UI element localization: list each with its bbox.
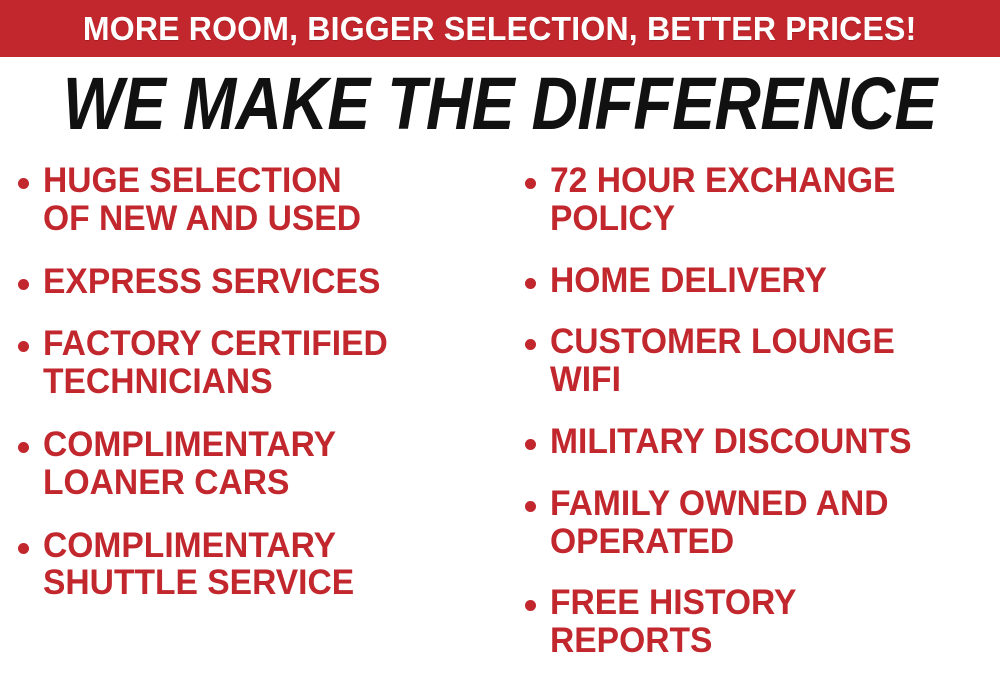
- list-item: FREE HISTORY REPORTS: [523, 584, 1000, 660]
- bullet-dot-icon: [525, 339, 536, 350]
- bullet-dot-icon: [525, 439, 536, 450]
- list-item: COMPLIMENTARY LOANER CARS: [18, 426, 505, 502]
- list-item: 72 HOUR EXCHANGE POLICY: [523, 162, 1000, 238]
- bullet-dot-icon: [18, 279, 29, 290]
- list-item-label: 72 HOUR EXCHANGE POLICY: [550, 162, 895, 238]
- list-item: HOME DELIVERY: [523, 262, 1000, 300]
- bullet-dot-icon: [18, 178, 29, 189]
- list-item-label: COMPLIMENTARY LOANER CARS: [43, 426, 336, 502]
- list-item: HUGE SELECTION OF NEW AND USED: [18, 162, 505, 238]
- list-item-label: HOME DELIVERY: [550, 262, 827, 300]
- list-item: FAMILY OWNED AND OPERATED: [523, 485, 1000, 561]
- bullet-dot-icon: [18, 543, 29, 554]
- list-item: CUSTOMER LOUNGE WIFI: [523, 323, 1000, 399]
- bullet-dot-icon: [18, 442, 29, 453]
- benefits-columns: HUGE SELECTION OF NEW AND USED EXPRESS S…: [0, 156, 1000, 694]
- list-item: MILITARY DISCOUNTS: [523, 423, 1000, 461]
- promo-banner: MORE ROOM, BIGGER SELECTION, BETTER PRIC…: [0, 0, 1000, 57]
- list-item-label: MILITARY DISCOUNTS: [550, 423, 912, 461]
- list-item-label: FREE HISTORY REPORTS: [550, 584, 796, 660]
- list-item-label: EXPRESS SERVICES: [43, 263, 380, 301]
- benefits-column-right: 72 HOUR EXCHANGE POLICY HOME DELIVERY CU…: [505, 156, 1000, 694]
- bullet-dot-icon: [525, 600, 536, 611]
- page-title: WE MAKE THE DIFFERENCE: [63, 66, 937, 141]
- list-item-label: FAMILY OWNED AND OPERATED: [550, 485, 889, 561]
- list-item: FACTORY CERTIFIED TECHNICIANS: [18, 325, 505, 401]
- headline-container: WE MAKE THE DIFFERENCE: [0, 62, 1000, 144]
- list-item: EXPRESS SERVICES: [18, 263, 505, 301]
- list-item-label: HUGE SELECTION OF NEW AND USED: [43, 162, 361, 238]
- list-item-label: FACTORY CERTIFIED TECHNICIANS: [43, 325, 388, 401]
- bullet-dot-icon: [18, 341, 29, 352]
- list-item-label: COMPLIMENTARY SHUTTLE SERVICE: [43, 527, 354, 603]
- list-item: COMPLIMENTARY SHUTTLE SERVICE: [18, 527, 505, 603]
- benefits-column-left: HUGE SELECTION OF NEW AND USED EXPRESS S…: [0, 156, 505, 694]
- bullet-dot-icon: [525, 501, 536, 512]
- list-item-label: CUSTOMER LOUNGE WIFI: [550, 323, 895, 399]
- bullet-dot-icon: [525, 278, 536, 289]
- bullet-dot-icon: [525, 178, 536, 189]
- promo-banner-text: MORE ROOM, BIGGER SELECTION, BETTER PRIC…: [83, 12, 917, 45]
